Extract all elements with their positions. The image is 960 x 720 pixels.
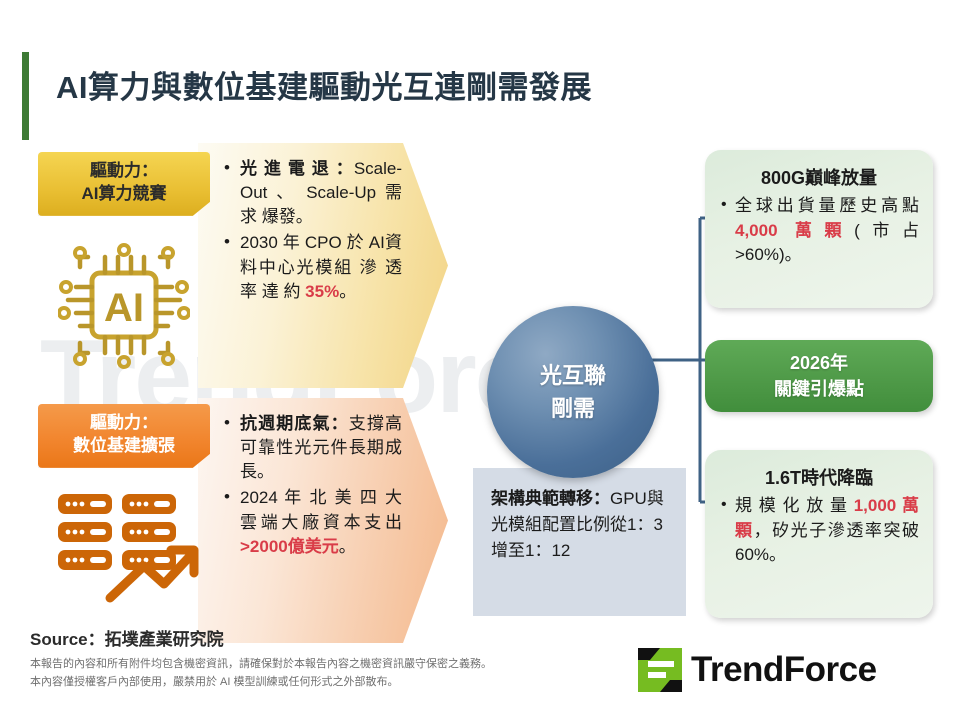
- slide-root: TrendForce AI算力與數位基建驅動光互連剛需發展 光 進 電 退 ：S…: [0, 0, 960, 720]
- server-growth-icon: [52, 486, 204, 611]
- disclaimer-text: 本報告的內容和所有附件均包含機密資訊，請確保對於本報告內容之機密資訊嚴守保密之義…: [30, 655, 492, 691]
- driver-ai-bullet-list: 光 進 電 退 ：Scale-Out 、 Scale-Up 需 求 爆發。 20…: [224, 157, 402, 304]
- circle-line-2: 剛需: [551, 392, 595, 425]
- outcome-card-16t: 1.6T時代降臨 規 模 化 放 量 1,000 萬 顆，矽光子滲透率突破60%…: [705, 450, 933, 618]
- bullet-body: 全球出貨量歷史高點: [735, 196, 919, 215]
- pill-line-2: 關鍵引爆點: [774, 376, 864, 402]
- bullet-lead: 光 進 電 退 ：: [240, 159, 354, 178]
- list-item: 2024 年 北 美 四 大雲端大廠資本支出>2000億美元。: [224, 486, 402, 558]
- list-item: 光 進 電 退 ：Scale-Out 、 Scale-Up 需 求 爆發。: [224, 157, 402, 229]
- driver-infra-bullet-list: 抗週期底氣：支撐高可靠性光元件長期成長。 2024 年 北 美 四 大雲端大廠資…: [224, 412, 402, 559]
- arch-lead: 架構典範轉移：: [491, 489, 610, 508]
- svg-text:AI: AI: [104, 286, 144, 330]
- trendforce-logo: TrendForce: [638, 648, 877, 692]
- bullet-highlight: 35%: [305, 282, 339, 301]
- bullet-tail: 。: [339, 282, 356, 301]
- badge-line-1: 驅動力：: [44, 412, 204, 435]
- disclaimer-line-1: 本報告的內容和所有附件均包含機密資訊，請確保對於本報告內容之機密資訊嚴守保密之義…: [30, 655, 492, 673]
- center-circle: 光互聯 剛需: [487, 306, 659, 478]
- driver-chevron-infra: 抗週期底氣：支撐高可靠性光元件長期成長。 2024 年 北 美 四 大雲端大廠資…: [198, 398, 448, 643]
- arch-text: 架構典範轉移：GPU與光模組配置比例從1：3增至1：12: [491, 486, 670, 563]
- card-heading: 1.6T時代降臨: [719, 464, 919, 490]
- bullet-highlight: >2000億美元: [240, 537, 339, 556]
- trendforce-logo-mark: [638, 648, 682, 692]
- architecture-shift-box: 架構典範轉移：GPU與光模組配置比例從1：3增至1：12: [473, 468, 686, 616]
- bullet-tail: 。: [339, 537, 356, 556]
- list-item: 全球出貨量歷史高點4,000 萬顆(市占>60%)。: [719, 194, 919, 268]
- driver-badge-infra: 驅動力： 數位基建擴張: [38, 404, 210, 468]
- pill-line-1: 2026年: [790, 350, 848, 376]
- list-item: 2030 年 CPO 於 AI資料中心光模組 滲 透 率 達 約 35%。: [224, 231, 402, 303]
- bullet-body: 2024 年 北 美 四 大雲端大廠資本支出: [240, 488, 402, 531]
- ai-chip-icon: AI: [58, 243, 190, 374]
- badge-line-2: AI算力競賽: [44, 183, 204, 206]
- card-bullet-list: 規 模 化 放 量 1,000 萬 顆，矽光子滲透率突破60%。: [719, 494, 919, 568]
- list-item: 規 模 化 放 量 1,000 萬 顆，矽光子滲透率突破60%。: [719, 494, 919, 568]
- bullet-lead: 抗週期底氣：: [240, 414, 349, 433]
- badge-line-2: 數位基建擴張: [44, 435, 204, 458]
- bullet-body: 規 模 化 放 量: [735, 496, 854, 515]
- driver-badge-ai: 驅動力： AI算力競賽: [38, 152, 210, 216]
- badge-line-1: 驅動力：: [44, 160, 204, 183]
- outcome-pill-2026: 2026年 關鍵引爆點: [705, 340, 933, 412]
- title-accent-bar: [22, 52, 29, 140]
- page-title: AI算力與數位基建驅動光互連剛需發展: [56, 62, 592, 107]
- circle-line-1: 光互聯: [540, 359, 606, 392]
- list-item: 抗週期底氣：支撐高可靠性光元件長期成長。: [224, 412, 402, 484]
- bullet-highlight: 4,000 萬顆: [735, 221, 854, 240]
- card-heading: 800G巔峰放量: [719, 164, 919, 190]
- disclaimer-line-2: 本內容僅授權客戶內部使用，嚴禁用於 AI 模型訓練或任何形式之外部散布。: [30, 673, 492, 691]
- card-bullet-list: 全球出貨量歷史高點4,000 萬顆(市占>60%)。: [719, 194, 919, 268]
- outcome-card-800g: 800G巔峰放量 全球出貨量歷史高點4,000 萬顆(市占>60%)。: [705, 150, 933, 308]
- bullet-tail: ，矽光子滲透率突破60%。: [735, 521, 919, 565]
- source-label: Source：拓墣產業研究院: [30, 625, 224, 650]
- driver-chevron-ai: 光 進 電 退 ：Scale-Out 、 Scale-Up 需 求 爆發。 20…: [198, 143, 448, 388]
- logo-wordmark: TrendForce: [691, 650, 877, 690]
